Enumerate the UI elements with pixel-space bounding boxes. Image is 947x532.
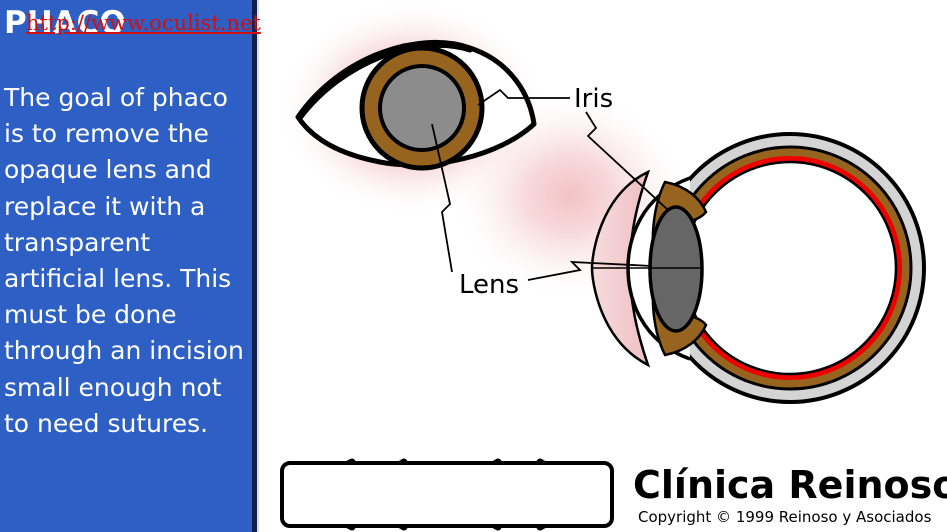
sclera-section (656, 134, 924, 402)
cross-section-eye (592, 134, 924, 402)
leader-iris-section (586, 112, 668, 210)
retina (678, 156, 902, 380)
label-lens: Lens (459, 270, 519, 300)
first-slide-button[interactable] (290, 465, 410, 524)
skin-glow (277, 0, 547, 216)
cornea (592, 172, 648, 365)
iris-frontal (362, 48, 482, 168)
vitreous-chamber (684, 162, 896, 374)
iris-flap-upper (653, 182, 706, 262)
panel-edge-light (257, 0, 259, 532)
clinic-name: Clínica Reinoso (633, 463, 947, 507)
leader-iris-frontal (478, 90, 570, 105)
next-slide-button[interactable] (526, 465, 606, 524)
choroid (669, 147, 911, 389)
leader-lens-frontal (432, 124, 452, 272)
frontal-eye-view (298, 42, 534, 168)
anterior-chamber (628, 178, 690, 359)
website-url-link[interactable]: http://www.oculist.net (26, 11, 261, 35)
label-iris: Iris (574, 84, 613, 114)
cataract-lens-frontal (380, 66, 464, 150)
navigation-bar (280, 461, 614, 528)
cataract-lens-section (650, 207, 702, 331)
skin-glow-secondary (450, 90, 690, 300)
leader-lens-section (528, 262, 652, 280)
sclera-frontal (298, 42, 534, 165)
leader-lines (432, 90, 668, 280)
zonule-lower (672, 294, 676, 313)
slide-body-text: The goal of phaco is to remove the opaqu… (4, 80, 248, 442)
eyelid-crease (300, 45, 470, 118)
previous-slide-button[interactable] (434, 465, 514, 524)
zonule-upper (672, 224, 676, 243)
copyright-notice: Copyright © 1999 Reinoso y Asociados (638, 508, 931, 526)
slide-canvas: PHACO http://www.oculist.net The goal of… (0, 0, 947, 532)
caruncle (496, 82, 532, 129)
iris-flap-lower (653, 275, 706, 355)
